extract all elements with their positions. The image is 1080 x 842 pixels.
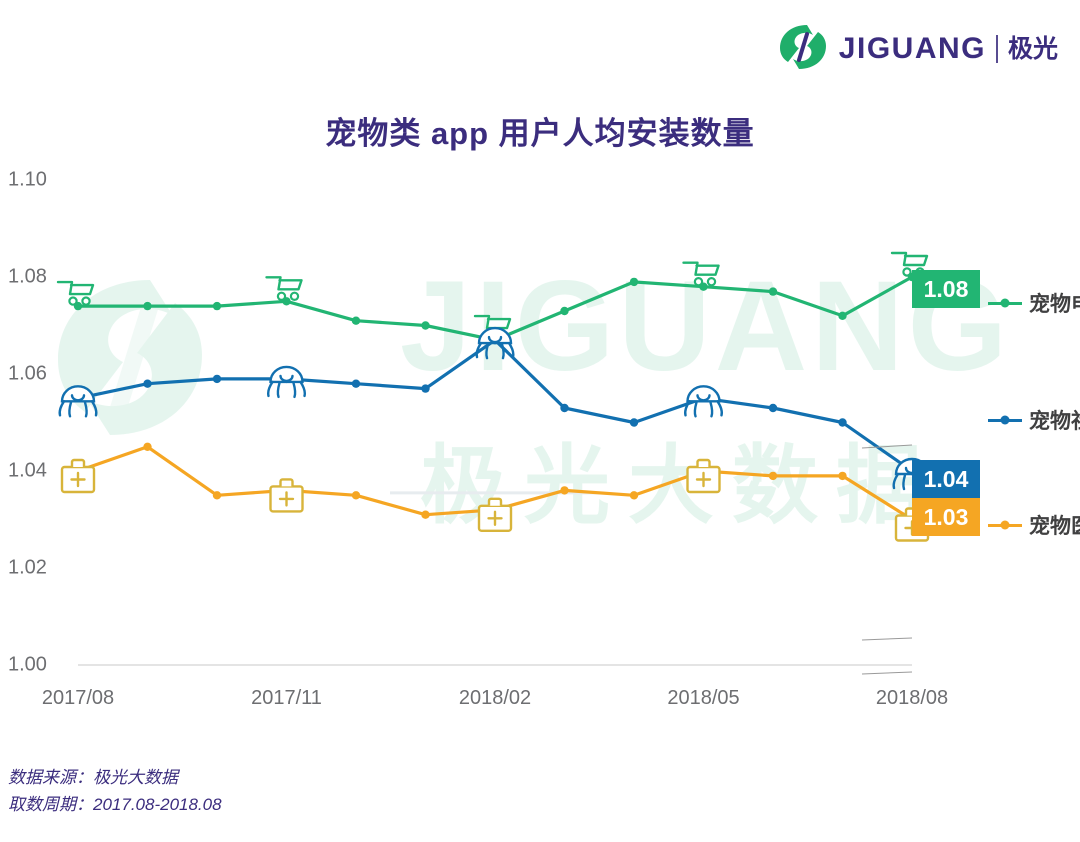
shopping-cart-icon — [684, 263, 719, 286]
y-tick-label: 1.10 — [8, 169, 70, 192]
data-point — [352, 491, 360, 499]
medical-kit-icon — [688, 460, 720, 492]
data-point — [560, 486, 568, 494]
x-tick-label: 2018/08 — [876, 687, 948, 710]
data-point — [769, 404, 777, 412]
data-point — [769, 472, 777, 480]
chart-plot — [0, 160, 1080, 730]
legend-pet-ecommerce[interactable]: 宠物电商 — [988, 288, 1080, 318]
data-point — [352, 380, 360, 388]
pet-ecommerce-value: 1.08 — [912, 270, 980, 308]
x-tick-label: 2017/08 — [42, 687, 114, 710]
data-point — [143, 302, 151, 310]
octopus-icon — [268, 367, 305, 397]
brand-logo: JIGUANG 极光 — [777, 24, 1058, 74]
data-point — [838, 418, 846, 426]
data-source-line: 数据来源：极光大数据 — [8, 764, 222, 791]
badge-leader-line — [862, 638, 912, 640]
chart-container: JIGUANG 极光大数据 — [0, 160, 1080, 730]
y-tick-label: 1.06 — [8, 363, 70, 386]
y-tick-label: 1.00 — [8, 654, 70, 677]
data-point — [213, 375, 221, 383]
data-point — [838, 312, 846, 320]
data-point — [769, 287, 777, 295]
x-tick-label: 2018/05 — [667, 687, 739, 710]
x-tick-label: 2017/11 — [251, 687, 322, 710]
shopping-cart-icon — [267, 277, 302, 300]
data-point — [560, 307, 568, 315]
y-tick-label: 1.04 — [8, 460, 70, 483]
brand-divider — [996, 35, 998, 63]
data-point — [838, 472, 846, 480]
badge-leader-line — [862, 672, 912, 674]
data-point — [143, 380, 151, 388]
data-point — [421, 511, 429, 519]
data-point — [213, 491, 221, 499]
legend-swatch — [988, 302, 1022, 305]
data-point — [421, 384, 429, 392]
legend-label: 宠物医疗 — [1029, 510, 1080, 540]
series-line — [78, 340, 912, 471]
octopus-icon — [685, 386, 722, 416]
data-point — [560, 404, 568, 412]
octopus-icon — [60, 386, 97, 416]
jiguang-logo-icon — [777, 22, 829, 77]
data-point — [421, 321, 429, 329]
brand-wordmark: JIGUANG — [839, 34, 986, 64]
series-宠物社区 — [60, 328, 931, 489]
legend-pet-medical[interactable]: 宠物医疗 — [988, 510, 1080, 540]
x-tick-label: 2018/02 — [459, 687, 531, 710]
badge-leader-line — [862, 445, 912, 448]
page-title: 宠物类 app 用户人均安装数量 — [0, 108, 1080, 153]
legend-pet-community[interactable]: 宠物社区 — [988, 405, 1080, 435]
legend-label: 宠物电商 — [1029, 288, 1080, 318]
data-period-line: 取数周期：2017.08-2018.08 — [8, 791, 222, 818]
legend-label: 宠物社区 — [1029, 405, 1080, 435]
y-tick-label: 1.08 — [8, 266, 70, 289]
footer-note: 数据来源：极光大数据 取数周期：2017.08-2018.08 — [8, 764, 222, 818]
pet-medical-value: 1.03 — [912, 498, 980, 536]
data-point — [630, 418, 638, 426]
brand-cn-name: 极光 — [1008, 37, 1058, 62]
data-point — [213, 302, 221, 310]
data-point — [630, 278, 638, 286]
legend-swatch — [988, 419, 1022, 422]
data-point — [630, 491, 638, 499]
y-tick-label: 1.02 — [8, 557, 70, 580]
data-point — [143, 443, 151, 451]
pet-community-value: 1.04 — [912, 460, 980, 498]
medical-kit-icon — [271, 479, 303, 511]
medical-kit-icon — [479, 499, 511, 531]
legend-swatch — [988, 524, 1022, 527]
data-point — [352, 317, 360, 325]
